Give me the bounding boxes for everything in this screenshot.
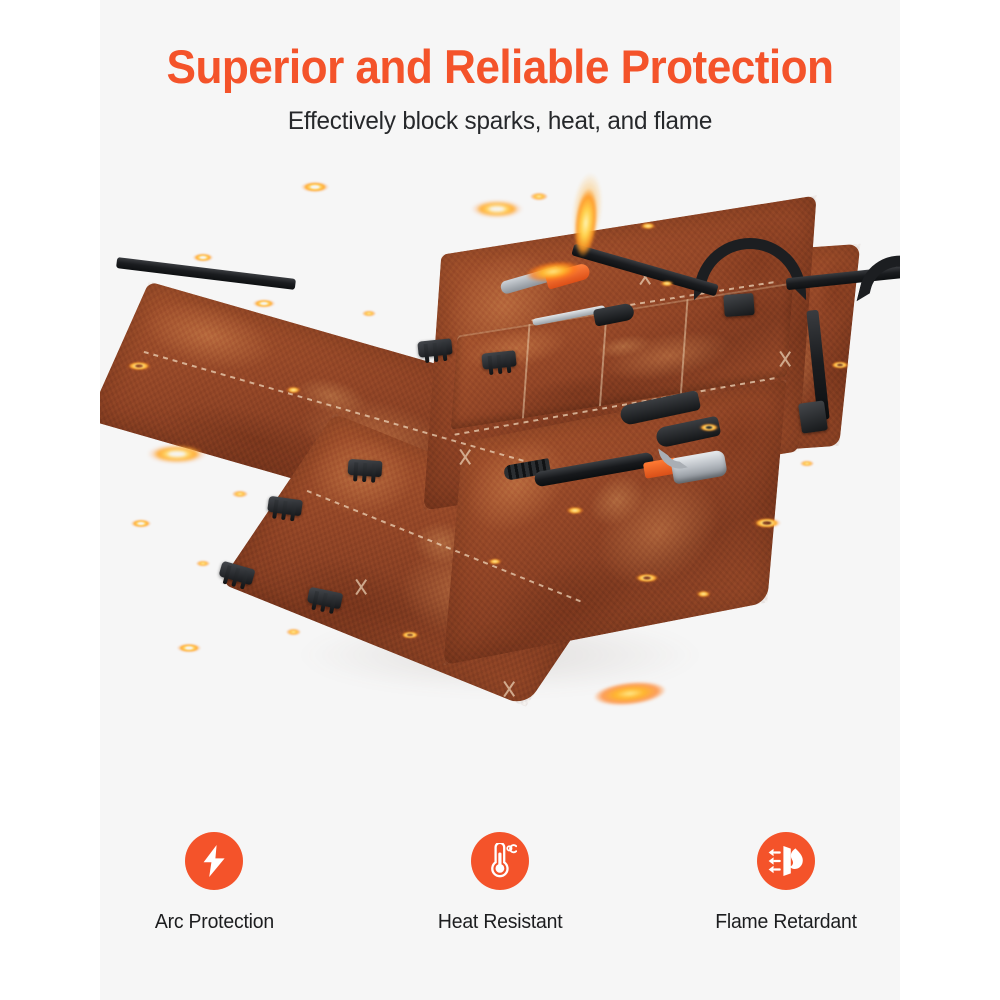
- spark-particle: [130, 518, 152, 529]
- spark-particle: [126, 360, 152, 372]
- apron-strap-buckle: [723, 293, 754, 317]
- spark-particle: [146, 442, 208, 466]
- feature-label: Heat Resistant: [438, 911, 563, 934]
- spark-particle: [470, 198, 524, 220]
- header: Superior and Reliable Protection Effecti…: [0, 42, 1000, 136]
- spark-particle: [176, 642, 202, 654]
- feature-item-flame-retardant: Flame Retardant: [696, 832, 876, 934]
- spark-particle: [252, 298, 276, 309]
- spark-particle: [660, 280, 674, 287]
- page-subtitle: Effectively block sparks, heat, and flam…: [15, 107, 985, 136]
- apron-rivet-mark: [456, 448, 474, 466]
- apron-strap-adjuster: [798, 400, 828, 433]
- spark-particle: [196, 560, 210, 567]
- product-feature-banner: Superior and Reliable Protection Effecti…: [0, 0, 1000, 1000]
- spark-particle: [830, 360, 850, 370]
- spark-particle: [530, 192, 548, 201]
- apron-rivet-mark: [500, 680, 518, 698]
- spark-particle: [286, 386, 301, 394]
- feature-item-heat-resistant: Heat Resistant: [410, 832, 590, 934]
- apron-rivet-mark: [776, 350, 794, 368]
- spark-particle: [566, 506, 584, 515]
- spark-particle: [634, 572, 660, 584]
- spark-particle: [192, 252, 214, 263]
- page-title: Superior and Reliable Protection: [30, 42, 970, 93]
- feature-item-arc-protection: Arc Protection: [124, 832, 304, 934]
- thermometer-celsius-icon: [471, 832, 529, 890]
- spark-particle: [800, 460, 814, 467]
- spark-particle: [696, 590, 711, 598]
- apron-buckle-clip: [347, 459, 382, 477]
- apron-rivet-mark: [352, 578, 370, 596]
- apron-back-strap-loop: [856, 247, 900, 321]
- spark-particle: [300, 180, 330, 194]
- spark-particle: [232, 490, 248, 498]
- spark-particle: [488, 558, 502, 565]
- flame-barrier-icon: [757, 832, 815, 890]
- spark-particle: [752, 516, 782, 530]
- spark-particle: [400, 630, 420, 640]
- product-hero-image: [100, 160, 900, 780]
- spark-particle: [640, 222, 656, 230]
- feature-label: Flame Retardant: [715, 911, 857, 934]
- spark-particle: [286, 628, 301, 636]
- feature-label: Arc Protection: [154, 911, 273, 934]
- feature-list: Arc Protection Heat Resistant: [100, 832, 900, 934]
- spark-particle: [362, 310, 376, 317]
- apron-buckle-clip: [267, 496, 303, 517]
- spark-particle: [698, 422, 720, 433]
- lightning-bolt-icon: [185, 832, 243, 890]
